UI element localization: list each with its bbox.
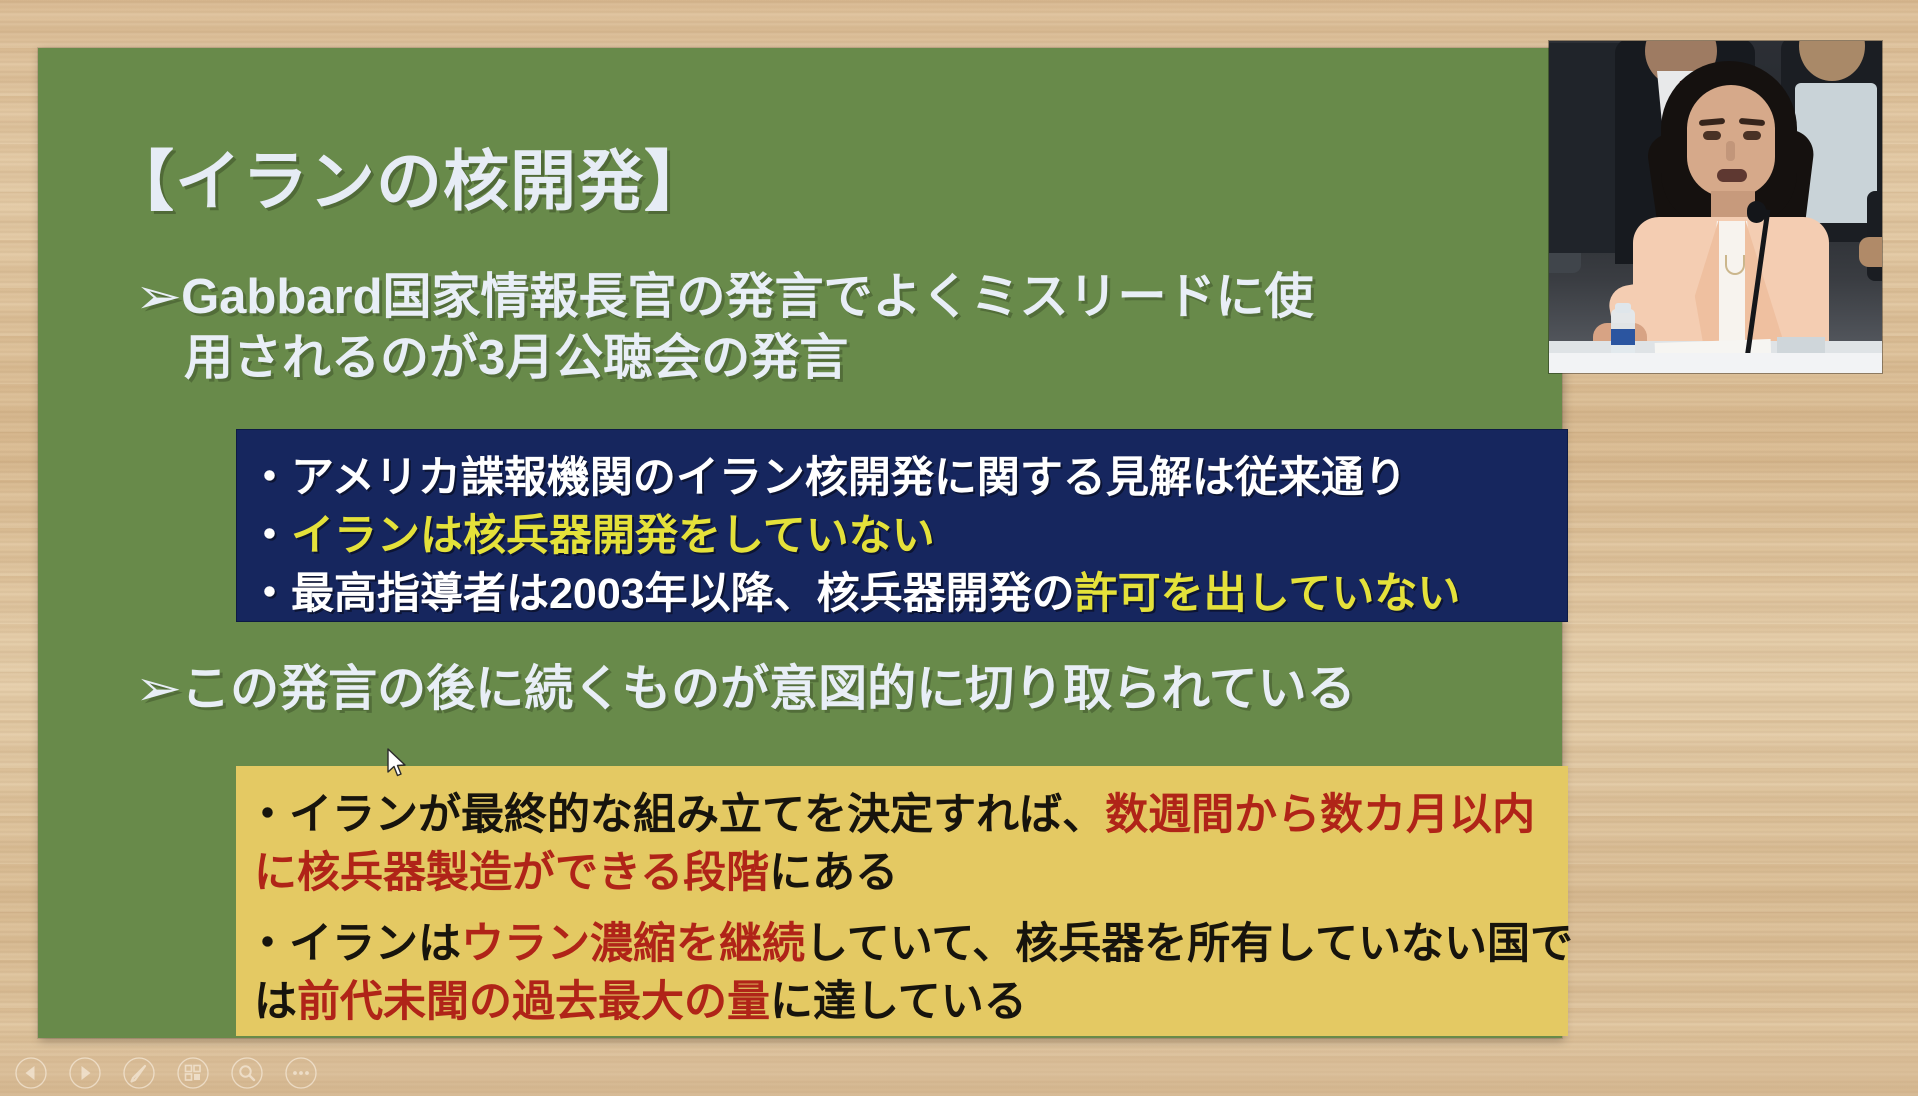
navy-row-3: ・最高指導者は2003年以降、核兵器開発の許可を出していない xyxy=(248,559,1560,621)
left-triangle-icon xyxy=(14,1056,48,1090)
navy-row-3-text: 最高指導者は2003年以降、核兵器開発の xyxy=(291,570,1075,618)
bullet-1-line-1: Gabbard国家情報長官の発言でよくミスリードに使 xyxy=(181,270,1313,324)
navy-row-1-text: アメリカ諜報機関のイラン核開発に関する見解は従来通り xyxy=(291,454,1407,502)
speaker-mouth xyxy=(1717,169,1747,182)
grid-icon xyxy=(176,1056,210,1090)
pen-annotate-button[interactable] xyxy=(116,1055,162,1091)
yellow-row-2: に核兵器製造ができる段階にある xyxy=(246,838,1562,900)
water-bottle-cap xyxy=(1615,303,1631,313)
microphone-head-icon xyxy=(1747,201,1766,223)
bullet-arrow-icon: ➢ xyxy=(135,270,182,325)
bullet-item-2: ➢この発言の後に続くものが意図的に切り取られている xyxy=(138,662,1558,717)
yellow-row-3-tail: していて、核兵器を所有していない国で xyxy=(805,920,1573,968)
yellow-quote-box: ・イランが最終的な組み立てを決定すれば、数週間から数カ月以内 に核兵器製造ができ… xyxy=(236,766,1568,1036)
bullet-arrow-icon-2: ➢ xyxy=(135,662,182,717)
navy-row-1: ・アメリカ諜報機関のイラン核開発に関する見解は従来通り xyxy=(248,443,1560,505)
bullet-2-line-1: この発言の後に続くものが意図的に切り取られている xyxy=(181,662,1356,716)
ellipsis-icon xyxy=(284,1056,318,1090)
yellow-row-2-tail: にある xyxy=(769,849,898,897)
yellow-row-1: ・イランが最終的な組み立てを決定すれば、数週間から数カ月以内 xyxy=(246,780,1562,842)
water-bottle-label xyxy=(1611,329,1635,345)
video-bottom-bar xyxy=(1549,353,1882,373)
speaker-eye-right xyxy=(1743,131,1761,140)
yellow-row-4-text: は xyxy=(254,978,297,1026)
bullet-1-line-2: 用されるのが3月公聴会の発言 xyxy=(138,331,1558,386)
bullet-item-1: ➢Gabbard国家情報長官の発言でよくミスリードに使 用されるのが3月公聴会の… xyxy=(138,270,1558,386)
name-plate xyxy=(1777,337,1825,353)
bottom-toolbar[interactable] xyxy=(0,1050,1918,1096)
previous-slide-button[interactable] xyxy=(8,1055,54,1091)
mouse-cursor-icon xyxy=(386,748,408,780)
page-title: 【イランの核開発】 xyxy=(108,128,711,224)
yellow-row-1-highlight: 数週間から数カ月以内 xyxy=(1105,791,1535,839)
navy-row-3-bullet: ・ xyxy=(248,570,291,618)
zoom-button[interactable] xyxy=(224,1055,270,1091)
navy-row-2: ・イランは核兵器開発をしていない xyxy=(248,501,1560,563)
yellow-row-4-highlight: 前代未聞の過去最大の量 xyxy=(297,978,770,1026)
yellow-row-2-highlight: に核兵器製造ができる段階 xyxy=(254,849,769,897)
screen: 【イランの核開発】 ➢Gabbard国家情報長官の発言でよくミスリードに使 用さ… xyxy=(0,0,1918,1096)
yellow-row-1-text: イランが最終的な組み立てを決定すれば、 xyxy=(289,791,1105,839)
navy-row-2-highlight: イランは核兵器開発をしていない xyxy=(291,512,935,560)
slide-overview-button[interactable] xyxy=(170,1055,216,1091)
navy-quote-box: ・アメリカ諜報機関のイラン核開発に関する見解は従来通り ・イランは核兵器開発をし… xyxy=(236,429,1568,622)
right-triangle-icon xyxy=(68,1056,102,1090)
yellow-row-3: ・イランはウラン濃縮を継続していて、核兵器を所有していない国で xyxy=(246,909,1562,971)
yellow-row-3-bullet: ・ xyxy=(246,920,289,968)
navy-row-1-bullet: ・ xyxy=(248,454,291,502)
play-slide-button[interactable] xyxy=(62,1055,108,1091)
navy-row-3-highlight: 許可を出していない xyxy=(1075,570,1461,618)
yellow-row-3-highlight: ウラン濃縮を継続 xyxy=(461,920,805,968)
yellow-row-4: は前代未聞の過去最大の量に達している xyxy=(246,967,1562,1029)
background-person-right-hand xyxy=(1859,237,1882,267)
video-overlay[interactable] xyxy=(1549,41,1882,373)
speaker-eye-left xyxy=(1703,131,1721,140)
yellow-row-4-tail: に達している xyxy=(770,978,1027,1026)
yellow-row-1-bullet: ・ xyxy=(246,791,289,839)
yellow-row-3-text: イランは xyxy=(289,920,461,968)
pen-icon xyxy=(122,1056,156,1090)
navy-row-2-bullet: ・ xyxy=(248,512,291,560)
presentation-slide: 【イランの核開発】 ➢Gabbard国家情報長官の発言でよくミスリードに使 用さ… xyxy=(38,48,1562,1038)
speaker-nose xyxy=(1726,141,1735,161)
magnifier-icon xyxy=(230,1056,264,1090)
background-person-right-arm xyxy=(1867,191,1882,281)
speaker-necklace xyxy=(1725,255,1745,275)
more-options-button[interactable] xyxy=(278,1055,324,1091)
